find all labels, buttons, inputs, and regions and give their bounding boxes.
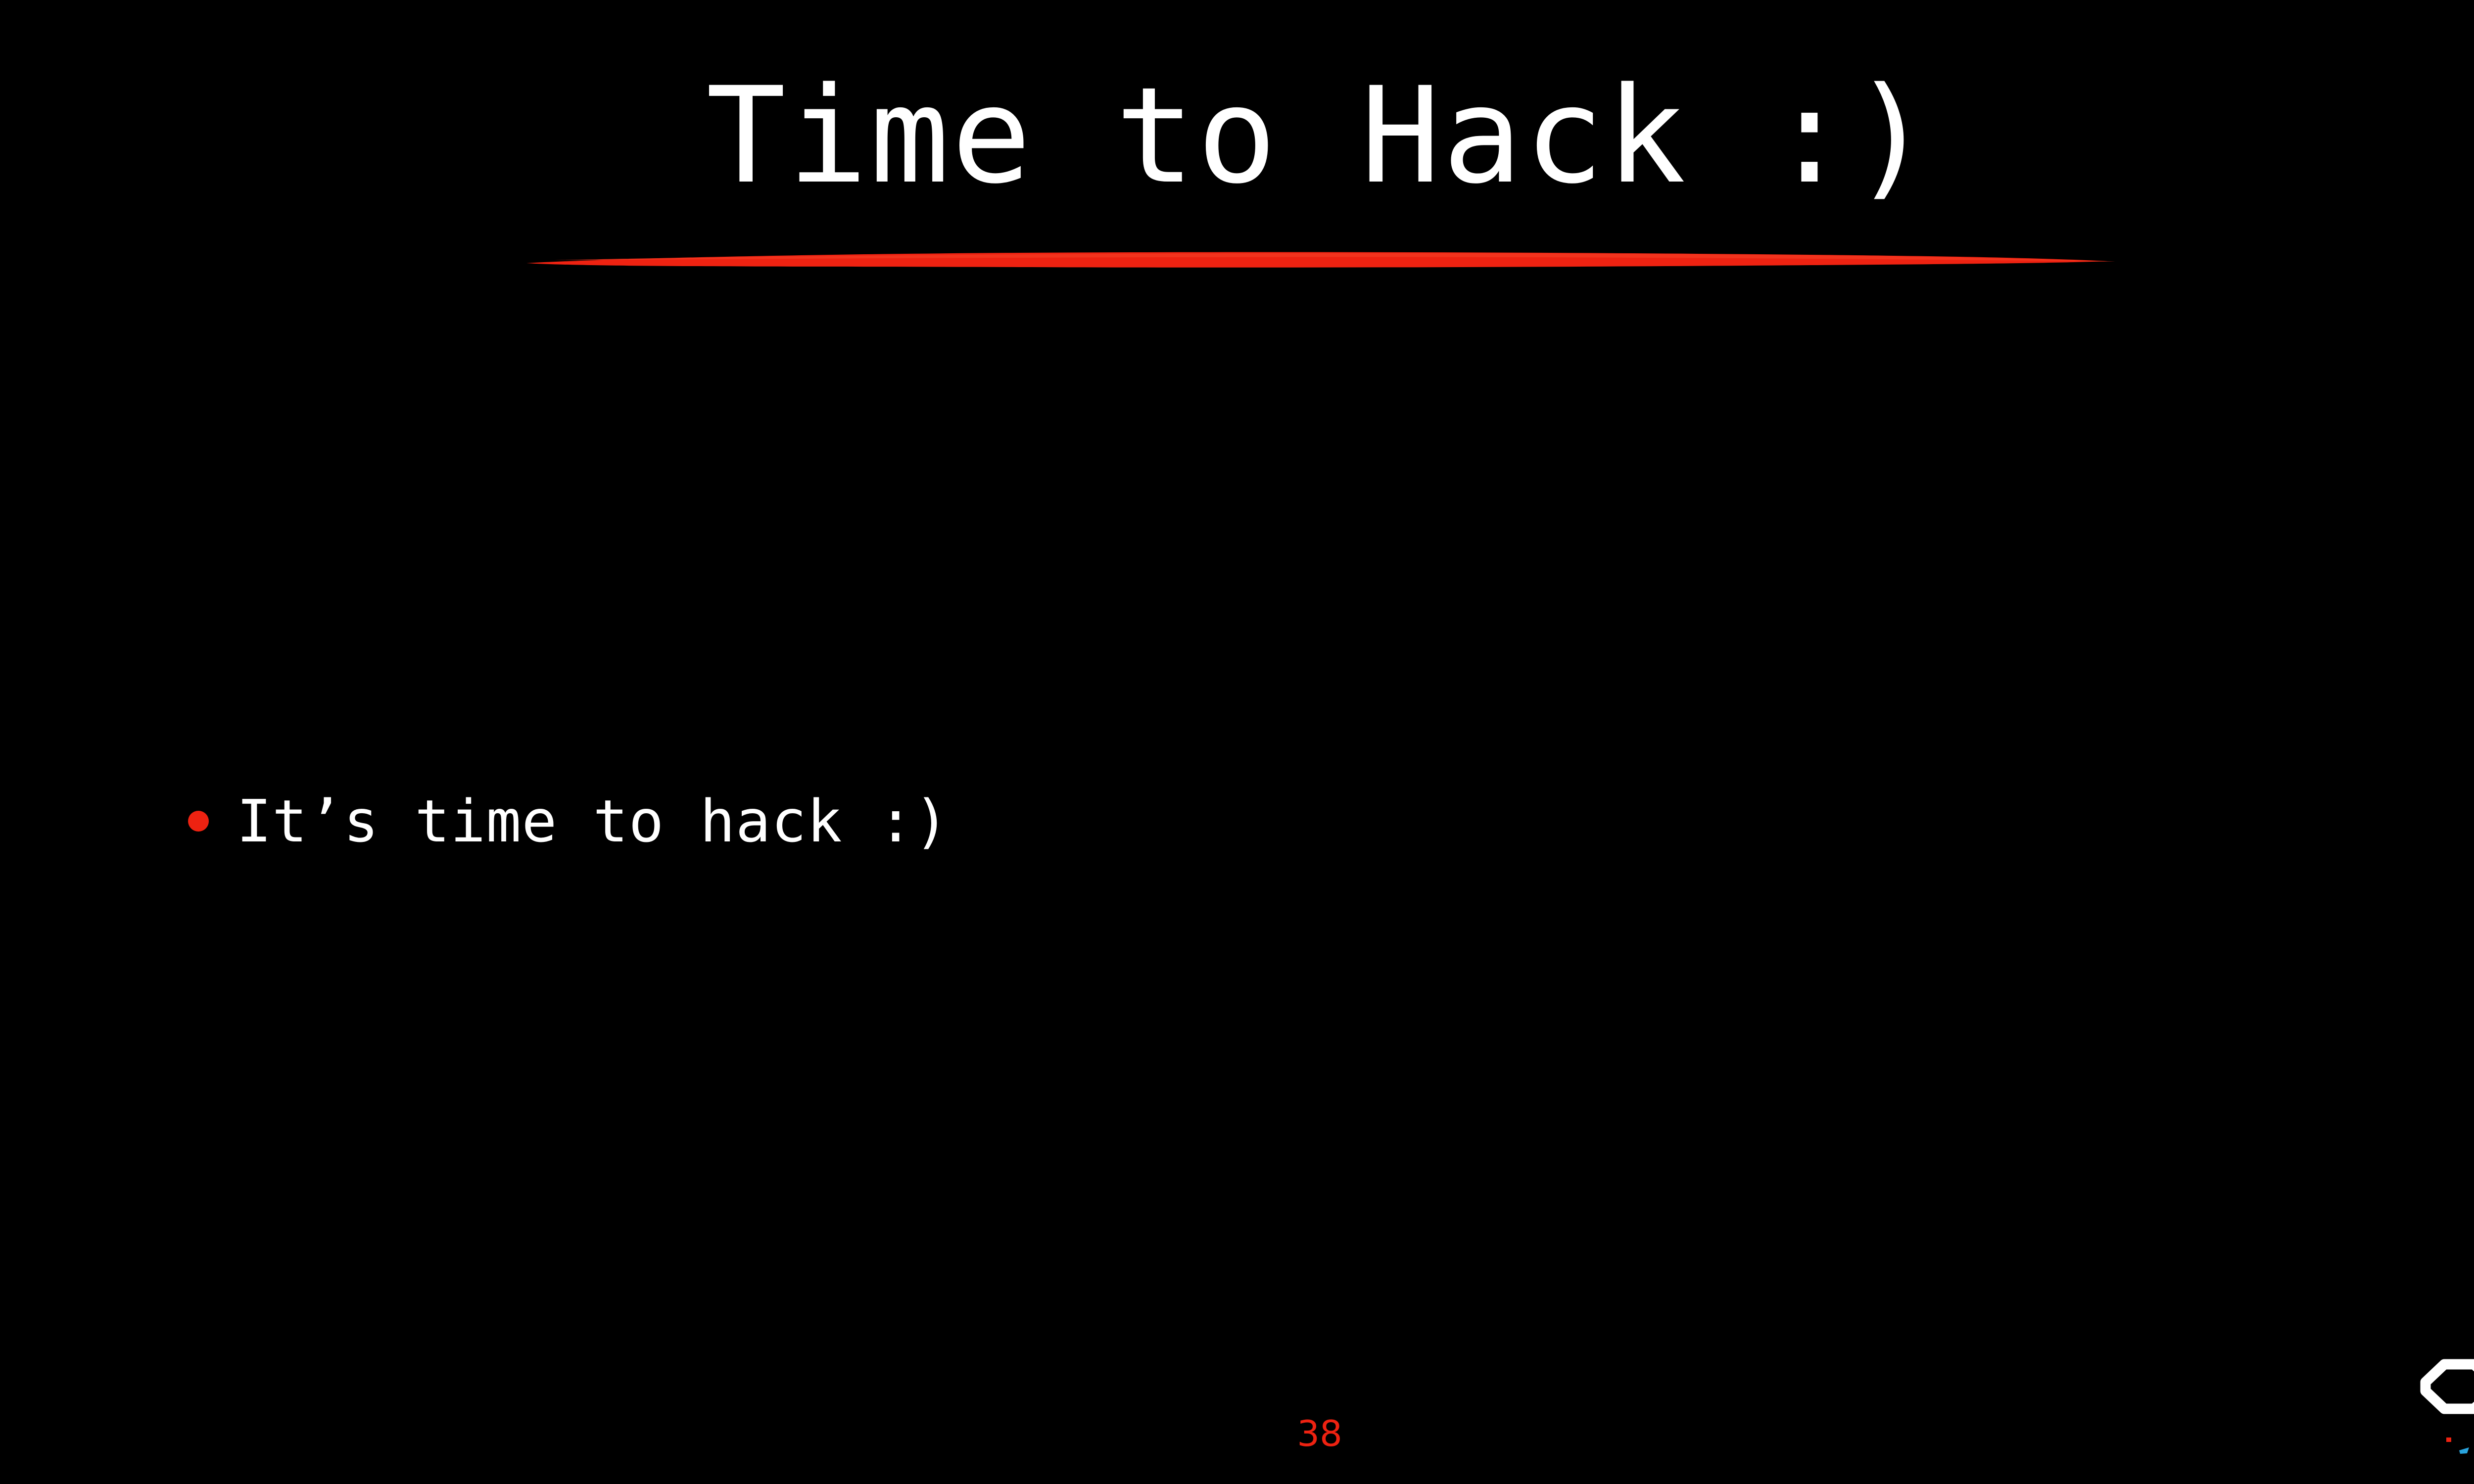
title-underline-stroke (524, 228, 2123, 292)
bullet-dot-icon (188, 811, 209, 832)
wordmark-accent-red-icon (2446, 1438, 2451, 1442)
page-number: 38 (0, 1412, 2474, 1455)
title-block: Time to Hack :) (0, 54, 2474, 232)
infinity-hexagon-icon: آکادمی راوین (2414, 1336, 2474, 1459)
list-item: It’s time to hack :) (188, 787, 2415, 856)
wordmark-accent-blue-icon (2459, 1447, 2469, 1454)
bullet-list: It’s time to hack :) (188, 787, 2415, 856)
bullet-item-label: It’s time to hack :) (237, 787, 950, 856)
brand-logo: آکادمی راوین (2414, 1336, 2474, 1459)
underline-icon (524, 228, 2123, 292)
page-title: Time to Hack :) (0, 54, 2474, 218)
slide-canvas: Time to Hack :) It’s time to hack :) 38 … (0, 0, 2474, 1484)
